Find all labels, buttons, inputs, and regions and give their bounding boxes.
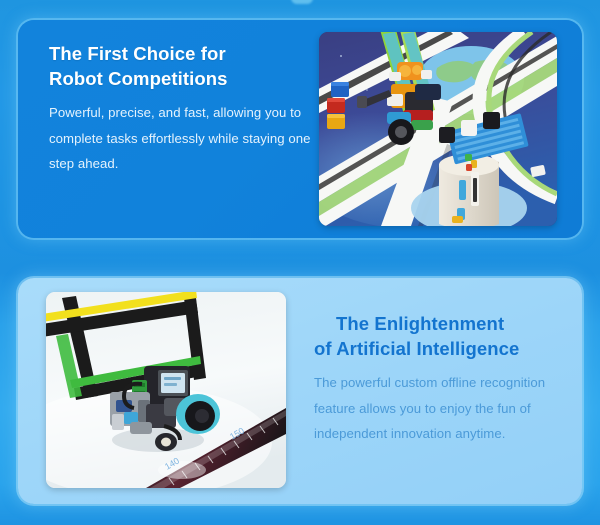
competition-photo-art bbox=[319, 32, 557, 226]
card-ai-enlightenment: 140 150 The Enlightenment of Artificial … bbox=[18, 278, 582, 504]
card-robot-competitions: The First Choice for Robot Competitions … bbox=[18, 20, 582, 238]
card-competition-copy: The First Choice for Robot Competitions … bbox=[49, 42, 317, 176]
ai-robot-photo-art: 140 150 bbox=[46, 292, 286, 488]
heading-line-1: The Enlightenment bbox=[314, 312, 566, 337]
heading-line-1: The First Choice for bbox=[49, 43, 226, 64]
ai-robot-photo: 140 150 bbox=[46, 292, 286, 488]
heading-line-2: of Artificial Intelligence bbox=[314, 337, 566, 362]
card-ai-copy: The Enlightenment of Artificial Intellig… bbox=[314, 312, 566, 446]
heading-line-2: Robot Competitions bbox=[49, 68, 228, 89]
card-ai-heading: The Enlightenment of Artificial Intellig… bbox=[314, 312, 566, 361]
card-competition-heading: The First Choice for Robot Competitions bbox=[49, 42, 317, 91]
card-competition-body: Powerful, precise, and fast, allowing yo… bbox=[49, 100, 317, 176]
card-ai-body: The powerful custom offline recognition … bbox=[314, 370, 566, 446]
competition-photo bbox=[319, 32, 557, 226]
promo-stage: The First Choice for Robot Competitions … bbox=[0, 0, 600, 525]
top-nub-decoration bbox=[291, 0, 313, 4]
